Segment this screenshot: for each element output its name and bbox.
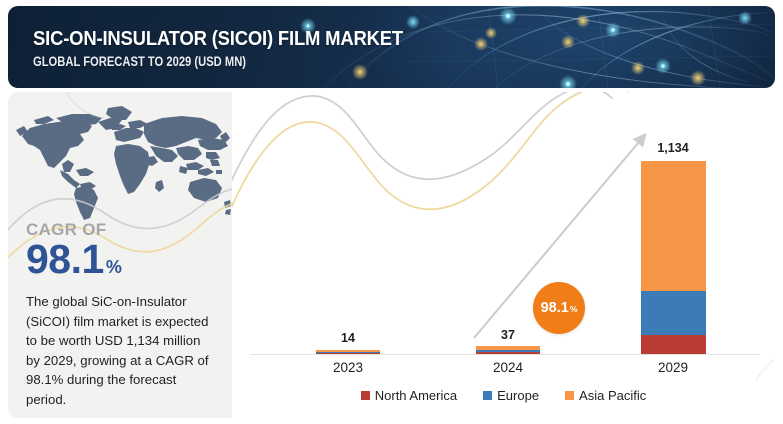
bar-segment-north-america-2024[interactable] [476,352,540,354]
x-tick-label-2023: 2023 [288,360,408,375]
bar-segment-asia-pacific-2029[interactable] [641,161,706,291]
x-tick-label-2024: 2024 [448,360,568,375]
bar-value-2023: 14 [288,331,408,345]
bar-value-2029: 1,134 [613,141,733,155]
header-text-block: SIC-ON-INSULATOR (SICOI) FILM MARKET GLO… [33,27,444,70]
infographic-card: SIC-ON-INSULATOR (SICOI) FILM MARKET GLO… [0,0,783,424]
legend-label-north-america: North America [375,388,457,403]
bar-segment-north-america-2029[interactable] [641,335,706,354]
plot-area: 14 2023 37 2024 [232,92,775,418]
world-map-svg [10,102,232,222]
x-axis-line [250,354,760,355]
bar-segment-north-america-2023[interactable] [316,353,380,354]
world-map-icon [10,102,232,222]
market-description: The global SiC-on-Insulator (SiCOI) film… [26,292,212,409]
legend-label-asia-pacific: Asia Pacific [579,388,646,403]
page-title: SIC-ON-INSULATOR (SICOI) FILM MARKET [33,27,403,50]
x-tick-label-2029: 2029 [613,360,733,375]
bar-stack-2024[interactable] [476,346,540,354]
bar-group-2029: 1,134 [613,160,733,354]
bar-segment-europe-2029[interactable] [641,291,706,335]
legend-swatch-north-america [361,391,370,400]
page-subtitle: GLOBAL FORECAST TO 2029 (USD MN) [33,52,362,70]
legend-item-europe[interactable]: Europe [483,388,539,403]
legend-swatch-asia-pacific [565,391,574,400]
header-banner: SIC-ON-INSULATOR (SICOI) FILM MARKET GLO… [8,6,775,88]
body-card: CAGR OF 98.1 % The global SiC-on-Insulat… [8,92,775,418]
cagr-badge-value: 98.1 [541,282,569,334]
bar-group-2024: 37 [448,340,568,354]
cagr-summary-block: CAGR OF 98.1 % The global SiC-on-Insulat… [26,220,216,409]
legend-item-asia-pacific[interactable]: Asia Pacific [565,388,646,403]
chart-legend: North America Europe Asia Pacific [232,388,775,403]
legend-swatch-europe [483,391,492,400]
cagr-value: 98.1 [26,237,104,281]
chart-panel: 14 2023 37 2024 [232,92,775,418]
legend-label-europe: Europe [497,388,539,403]
cagr-badge: 98.1 % [533,282,585,334]
legend-item-north-america[interactable]: North America [361,388,457,403]
bar-stack-2023[interactable] [316,350,380,354]
left-summary-panel: CAGR OF 98.1 % The global SiC-on-Insulat… [8,92,232,418]
bar-stack-2029[interactable] [641,161,706,354]
cagr-badge-percent-symbol: % [570,283,578,335]
cagr-percent-symbol: % [106,255,122,279]
bar-group-2023: 14 [288,344,408,354]
cagr-value-row: 98.1 % [26,237,216,281]
